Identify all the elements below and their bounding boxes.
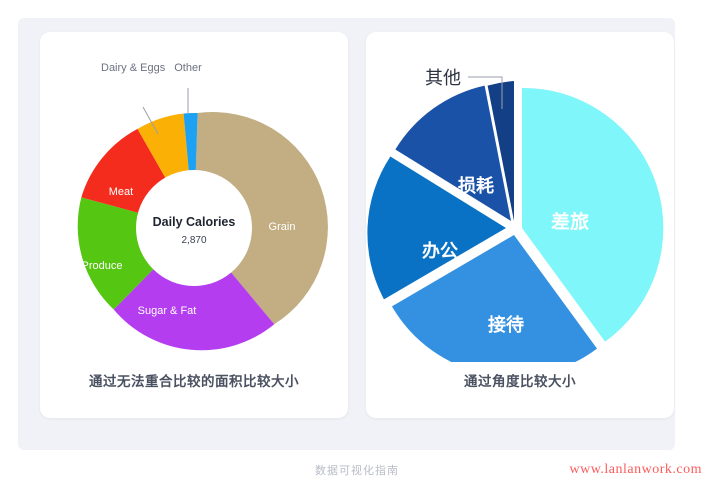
donut-label-dairy-eggs: Dairy & Eggs <box>101 62 166 74</box>
pie-label-qita: 其他 <box>425 68 461 88</box>
donut-chart-svg: Daily Calories 2,870 Grain Sugar & Fat P… <box>40 32 348 362</box>
donut-label-grain: Grain <box>269 221 296 233</box>
donut-center-value: 2,870 <box>181 235 206 246</box>
pie-label-bangong: 办公 <box>422 240 458 261</box>
watermark-url: www.lanlanwork.com <box>569 462 702 478</box>
donut-label-produce: Produce <box>82 260 123 272</box>
caption-right: 通过角度比较大小 <box>366 370 674 390</box>
donut-label-other: Other <box>174 62 202 74</box>
donut-chart: Daily Calories 2,870 Grain Sugar & Fat P… <box>40 32 348 362</box>
chart-card-donut: Daily Calories 2,870 Grain Sugar & Fat P… <box>40 32 348 418</box>
donut-center-title: Daily Calories <box>153 215 236 229</box>
pie-label-jiedai: 接待 <box>488 314 524 335</box>
pie-label-sunhao: 损耗 <box>458 175 494 196</box>
donut-label-meat: Meat <box>109 186 133 198</box>
pie-chart-svg: 差旅 接待 办公 损耗 其他 <box>366 32 674 362</box>
caption-left: 通过无法重合比较的面积比较大小 <box>40 370 348 390</box>
pie-chart: 差旅 接待 办公 损耗 其他 <box>366 32 674 362</box>
chart-card-pie: 差旅 接待 办公 损耗 其他 通过角度比较 <box>366 32 674 418</box>
pie-label-chailv: 差旅 <box>551 210 589 233</box>
donut-label-sugar-fat: Sugar & Fat <box>138 305 197 317</box>
